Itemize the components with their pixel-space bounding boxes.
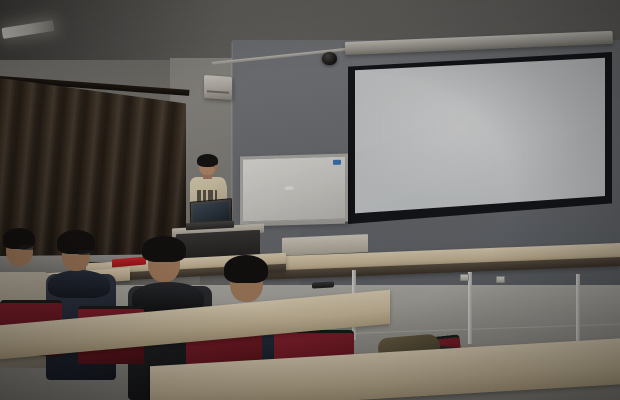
wall-power-outlet-icon [496,276,505,283]
smartphone-on-desk [312,281,334,288]
blue-magnet-icon [333,160,341,165]
wall-speaker-icon [204,75,232,100]
whiteboard [240,153,348,224]
student-4-hair [224,255,268,283]
student-2-hood [48,270,110,298]
podium-laptop-screen [193,201,229,222]
student-3-hair [142,236,186,262]
projection-screen[interactable] [355,57,605,215]
presenter-ear [214,165,218,170]
student-2-glasses-icon [78,250,94,255]
classroom-scene [0,0,620,400]
student-1-glasses-icon [20,245,36,250]
whiteboard-smudge [284,186,294,190]
desk-leg [576,274,580,348]
wall-power-outlet-icon [460,274,469,281]
dome-security-camera-icon [322,52,337,65]
